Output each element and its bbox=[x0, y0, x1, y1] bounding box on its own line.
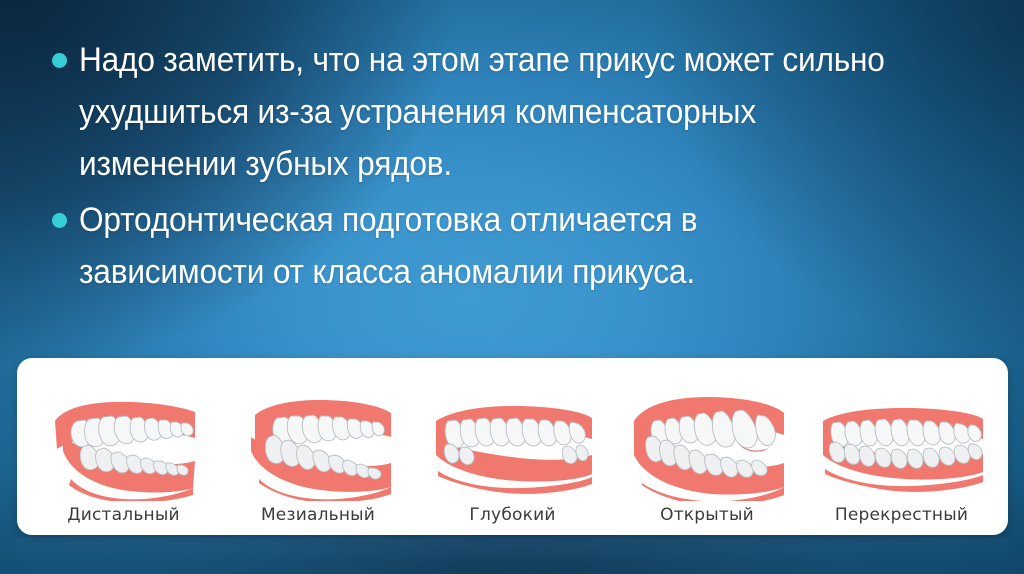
bite-types-row: Дистальный bbox=[17, 358, 1008, 535]
bite-type-label: Перекрестный bbox=[835, 505, 968, 525]
teeth-cross-bite-icon bbox=[813, 391, 991, 501]
bite-types-card: Дистальный bbox=[17, 358, 1008, 535]
teeth-distal-bite-icon bbox=[35, 391, 213, 501]
list-item: Ортодонтическая подготовка отличается в … bbox=[52, 194, 952, 298]
slide-canvas: Надо заметить, что на этом этапе прикус … bbox=[0, 0, 1024, 574]
bite-type-label: Мезиальный bbox=[261, 505, 375, 525]
bite-type-label: Открытый bbox=[660, 505, 754, 525]
card-reflection: Дистальный Мезиальный bbox=[17, 537, 1008, 574]
bullet-text-2: Ортодонтическая подготовка отличается в … bbox=[79, 194, 891, 298]
bite-type-mesial[interactable]: Мезиальный bbox=[226, 391, 411, 525]
bite-type-cross[interactable]: Перекрестный bbox=[809, 391, 994, 525]
bite-type-deep[interactable]: Глубокий bbox=[420, 391, 605, 525]
bite-type-label: Дистальный bbox=[67, 505, 179, 525]
bullet-text-1: Надо заметить, что на этом этапе прикус … bbox=[79, 34, 891, 190]
bullet-dot-icon bbox=[52, 53, 67, 68]
teeth-mesial-bite-icon bbox=[229, 391, 407, 501]
bite-type-label: Глубокий bbox=[469, 505, 555, 525]
list-item: Надо заметить, что на этом этапе прикус … bbox=[52, 34, 952, 190]
bullet-dot-icon bbox=[52, 213, 67, 228]
bullet-list: Надо заметить, что на этом этапе прикус … bbox=[52, 34, 952, 302]
teeth-open-bite-icon bbox=[618, 391, 796, 501]
bite-type-distal[interactable]: Дистальный bbox=[31, 391, 216, 525]
teeth-deep-bite-icon bbox=[424, 391, 602, 501]
bite-type-open[interactable]: Открытый bbox=[615, 391, 800, 525]
